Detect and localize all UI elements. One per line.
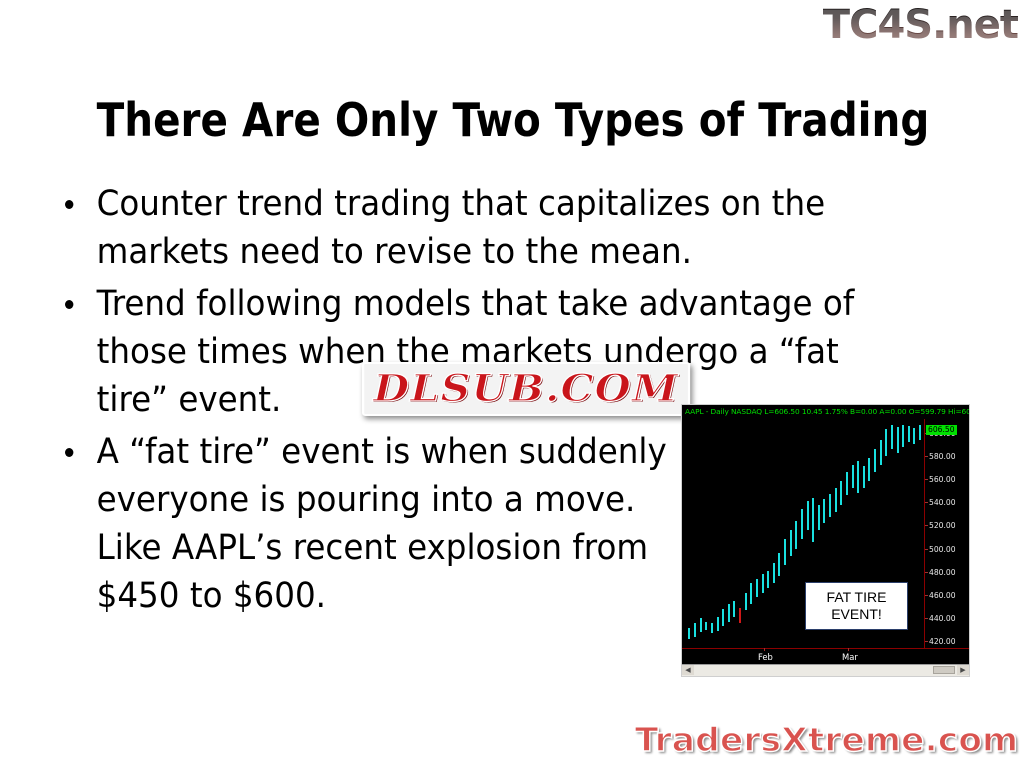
- candle-bar: [846, 472, 848, 495]
- candle-bar: [868, 458, 870, 481]
- candle-bar: [750, 583, 752, 604]
- fat-tire-callout: FAT TIRE EVENT!: [805, 582, 908, 630]
- price-tick-label: 460.00: [929, 591, 956, 600]
- candle-bar: [818, 505, 820, 530]
- candle-bar: [767, 571, 769, 588]
- candle-bar: [762, 574, 764, 593]
- chart-quote-line: AAPL - Daily NASDAQ L=606.50 10.45 1.75%…: [685, 406, 970, 418]
- candle-bar: [857, 461, 859, 493]
- scroll-right-arrow-icon[interactable]: ▶: [957, 665, 969, 675]
- price-tick-mark: [925, 549, 928, 550]
- candle-bar: [913, 428, 915, 444]
- candle-bar: [880, 440, 882, 465]
- date-tick-mark: [764, 648, 765, 651]
- bullet-dot-icon: [65, 300, 73, 309]
- list-item: A “fat tire” event is when suddenly ever…: [52, 428, 710, 620]
- callout-line-1: FAT TIRE: [827, 589, 887, 606]
- candle-bar: [705, 622, 707, 630]
- candle-bar: [717, 617, 719, 631]
- price-tick-label: 520.00: [929, 521, 956, 530]
- candle-bar: [773, 563, 775, 584]
- candle-bar: [835, 488, 837, 511]
- price-tick-mark: [925, 479, 928, 480]
- candle-bar: [790, 530, 792, 555]
- chart-horizontal-scrollbar[interactable]: ◀ ▶: [682, 664, 969, 676]
- list-item: Counter trend trading that capitalizes o…: [52, 180, 908, 276]
- price-tick-mark: [925, 572, 928, 573]
- bullet-text: Counter trend trading that capitalizes o…: [97, 184, 825, 272]
- price-tick-label: 480.00: [929, 568, 956, 577]
- candle-bar: [807, 501, 809, 530]
- price-tick-mark: [925, 618, 928, 619]
- candle-bar: [756, 579, 758, 598]
- last-price-badge: 606.50: [926, 425, 957, 435]
- price-tick-label: 560.00: [929, 475, 956, 484]
- price-tick-label: 540.00: [929, 498, 956, 507]
- bullet-dot-icon: [65, 448, 73, 457]
- candle-bar: [840, 481, 842, 504]
- candle-bar: [852, 465, 854, 488]
- candle-bar: [919, 425, 921, 440]
- candle-bar: [829, 494, 831, 517]
- price-tick-label: 420.00: [929, 637, 956, 646]
- price-tick-mark: [925, 502, 928, 503]
- date-tick-label: Mar: [842, 652, 858, 663]
- slide-canvas: TC4S.net There Are Only Two Types of Tra…: [0, 0, 1024, 768]
- price-tick-label: 580.00: [929, 452, 956, 461]
- date-tick-label: Feb: [758, 652, 773, 663]
- dlsub-watermark: DLSUB.COM: [362, 362, 690, 416]
- price-axis: 606.50 600.00580.00560.00540.00520.00500…: [924, 419, 969, 664]
- aapl-stock-chart[interactable]: AAPL - Daily NASDAQ L=606.50 10.45 1.75%…: [681, 404, 970, 677]
- price-tick-label: 500.00: [929, 545, 956, 554]
- candle-bar: [711, 623, 713, 633]
- price-tick-mark: [925, 595, 928, 596]
- candle-bar: [897, 427, 899, 452]
- bullet-dot-icon: [65, 200, 73, 209]
- tc4s-logo: TC4S.net: [823, 2, 1018, 48]
- price-tick-mark: [925, 525, 928, 526]
- candle-bar: [688, 628, 690, 638]
- candle-bar: [885, 429, 887, 456]
- scroll-left-arrow-icon[interactable]: ◀: [682, 665, 694, 675]
- price-tick-mark: [925, 456, 928, 457]
- scrollbar-thumb[interactable]: [933, 666, 955, 674]
- candle-bar: [823, 499, 825, 523]
- candle-bar: [778, 553, 780, 576]
- candle-bar: [891, 425, 893, 449]
- candle-bar: [739, 608, 741, 623]
- candle-bar: [801, 509, 803, 539]
- candle-bar: [863, 466, 865, 488]
- candle-bar: [812, 498, 814, 542]
- date-tick-mark: [848, 648, 849, 651]
- candle-bar: [745, 593, 747, 610]
- candle-bar: [874, 449, 876, 472]
- price-tick-label: 440.00: [929, 614, 956, 623]
- candle-bar: [722, 609, 724, 626]
- candle-bar: [733, 601, 735, 617]
- candle-bar: [795, 521, 797, 549]
- candle-bar: [700, 618, 702, 632]
- candle-bar: [728, 604, 730, 621]
- bullet-text: A “fat tire” event is when suddenly ever…: [97, 432, 667, 616]
- candle-bar: [694, 623, 696, 637]
- candle-bar: [784, 539, 786, 564]
- candle-bar: [902, 425, 904, 447]
- tradersxtreme-logo: TradersXtreme.com: [635, 720, 1018, 760]
- price-tick-mark: [925, 641, 928, 642]
- callout-line-2: EVENT!: [831, 606, 882, 623]
- page-title: There Are Only Two Types of Trading: [97, 91, 928, 149]
- candle-bar: [908, 426, 910, 442]
